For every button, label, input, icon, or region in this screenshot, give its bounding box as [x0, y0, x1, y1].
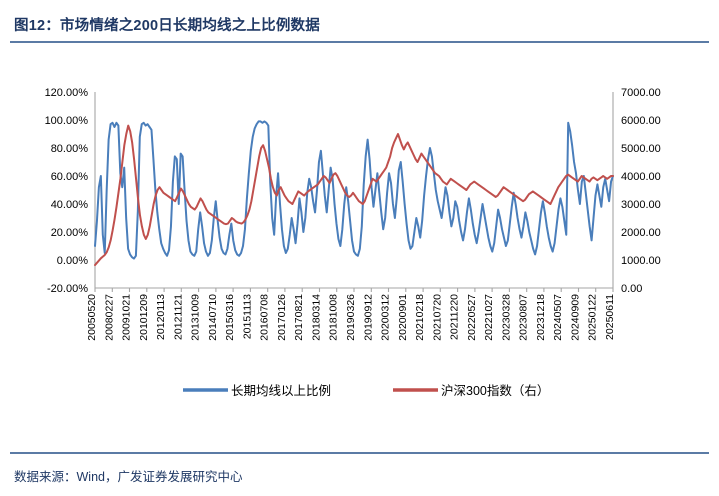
left-axis-tick-label: 100.00%: [45, 115, 89, 127]
x-axis-tick-label: 20160708: [259, 294, 271, 341]
x-axis-tick-label: 20101209: [138, 294, 150, 341]
right-axis-tick-label: 7000.00: [621, 87, 661, 99]
x-axis-tick-label: 20200901: [397, 294, 409, 341]
x-axis-tick-label: 20131009: [190, 294, 202, 341]
right-axis-tick-label: 3000.00: [621, 199, 661, 211]
x-axis-tick-label: 20120113: [155, 294, 167, 340]
x-axis-tick-label: 20220527: [466, 294, 478, 341]
x-axis-tick-label: 20211220: [449, 294, 461, 340]
left-axis-tick-label: -20.00%: [47, 283, 88, 295]
right-axis-tick-label: 0.00: [621, 283, 642, 295]
right-axis-tick-label: 5000.00: [621, 143, 661, 155]
legend-label-1: 长期均线以上比例: [231, 384, 331, 398]
right-axis-tick-label: 1000.00: [621, 255, 661, 267]
x-axis-tick-label: 20150316: [224, 294, 236, 341]
series-line-ratio: [95, 121, 613, 258]
left-axis-tick-label: 0.00%: [57, 255, 88, 267]
footer-divider: [10, 452, 709, 454]
title-divider: [10, 41, 709, 43]
left-axis-tick-label: 60.00%: [51, 171, 89, 183]
x-axis-tick-label: 20091021: [121, 294, 133, 341]
x-axis-tick-label: 20250611: [604, 294, 616, 340]
x-axis-tick-label: 20210720: [431, 294, 443, 341]
x-axis-tick-label: 20190326: [345, 294, 357, 341]
x-axis-tick-label: 20151113: [241, 294, 253, 339]
x-axis-tick-label: 20240507: [552, 294, 564, 341]
x-axis-tick-label: 20230807: [518, 294, 530, 341]
legend-label-2: 沪深300指数（右）: [441, 383, 549, 398]
source-note: 数据来源：Wind，广发证券发展研究中心: [14, 466, 242, 485]
x-axis-tick-label: 20210218: [414, 294, 426, 341]
x-axis-tick-label: 20231218: [535, 294, 547, 341]
x-axis-tick-label: 20170126: [276, 294, 288, 341]
x-axis-tick-label: 20180314: [311, 294, 323, 341]
x-axis-tick-label: 20181008: [328, 294, 340, 341]
x-axis-tick-label: 20170821: [293, 294, 305, 341]
x-axis-tick-label: 20230328: [500, 294, 512, 341]
x-axis-tick-label: 20200312: [380, 294, 392, 341]
x-axis-tick-label: 20190912: [362, 294, 374, 341]
left-axis-tick-label: 120.00%: [45, 87, 89, 99]
left-axis-tick-label: 80.00%: [51, 143, 89, 155]
x-axis-tick-label: 20080227: [103, 294, 115, 341]
x-axis-tick-label: 20121121: [172, 294, 184, 340]
left-axis-tick-label: 40.00%: [51, 199, 89, 211]
x-axis-tick-label: 20250122: [587, 294, 599, 341]
line-chart: -20.00%0.00%20.00%40.00%60.00%80.00%100.…: [0, 50, 719, 450]
right-axis-tick-label: 2000.00: [621, 227, 661, 239]
x-axis-tick-label: 20050520: [86, 294, 98, 341]
x-axis-tick-label: 20240909: [570, 294, 582, 341]
chart-container: -20.00%0.00%20.00%40.00%60.00%80.00%100.…: [0, 50, 719, 450]
figure-title: 图12：市场情绪之200日长期均线之上比例数据: [14, 14, 320, 35]
x-axis-tick-label: 20140710: [207, 294, 219, 341]
right-axis-tick-label: 4000.00: [621, 171, 661, 183]
right-axis-tick-label: 6000.00: [621, 115, 661, 127]
x-axis-tick-label: 20221027: [483, 294, 495, 341]
left-axis-tick-label: 20.00%: [51, 227, 89, 239]
